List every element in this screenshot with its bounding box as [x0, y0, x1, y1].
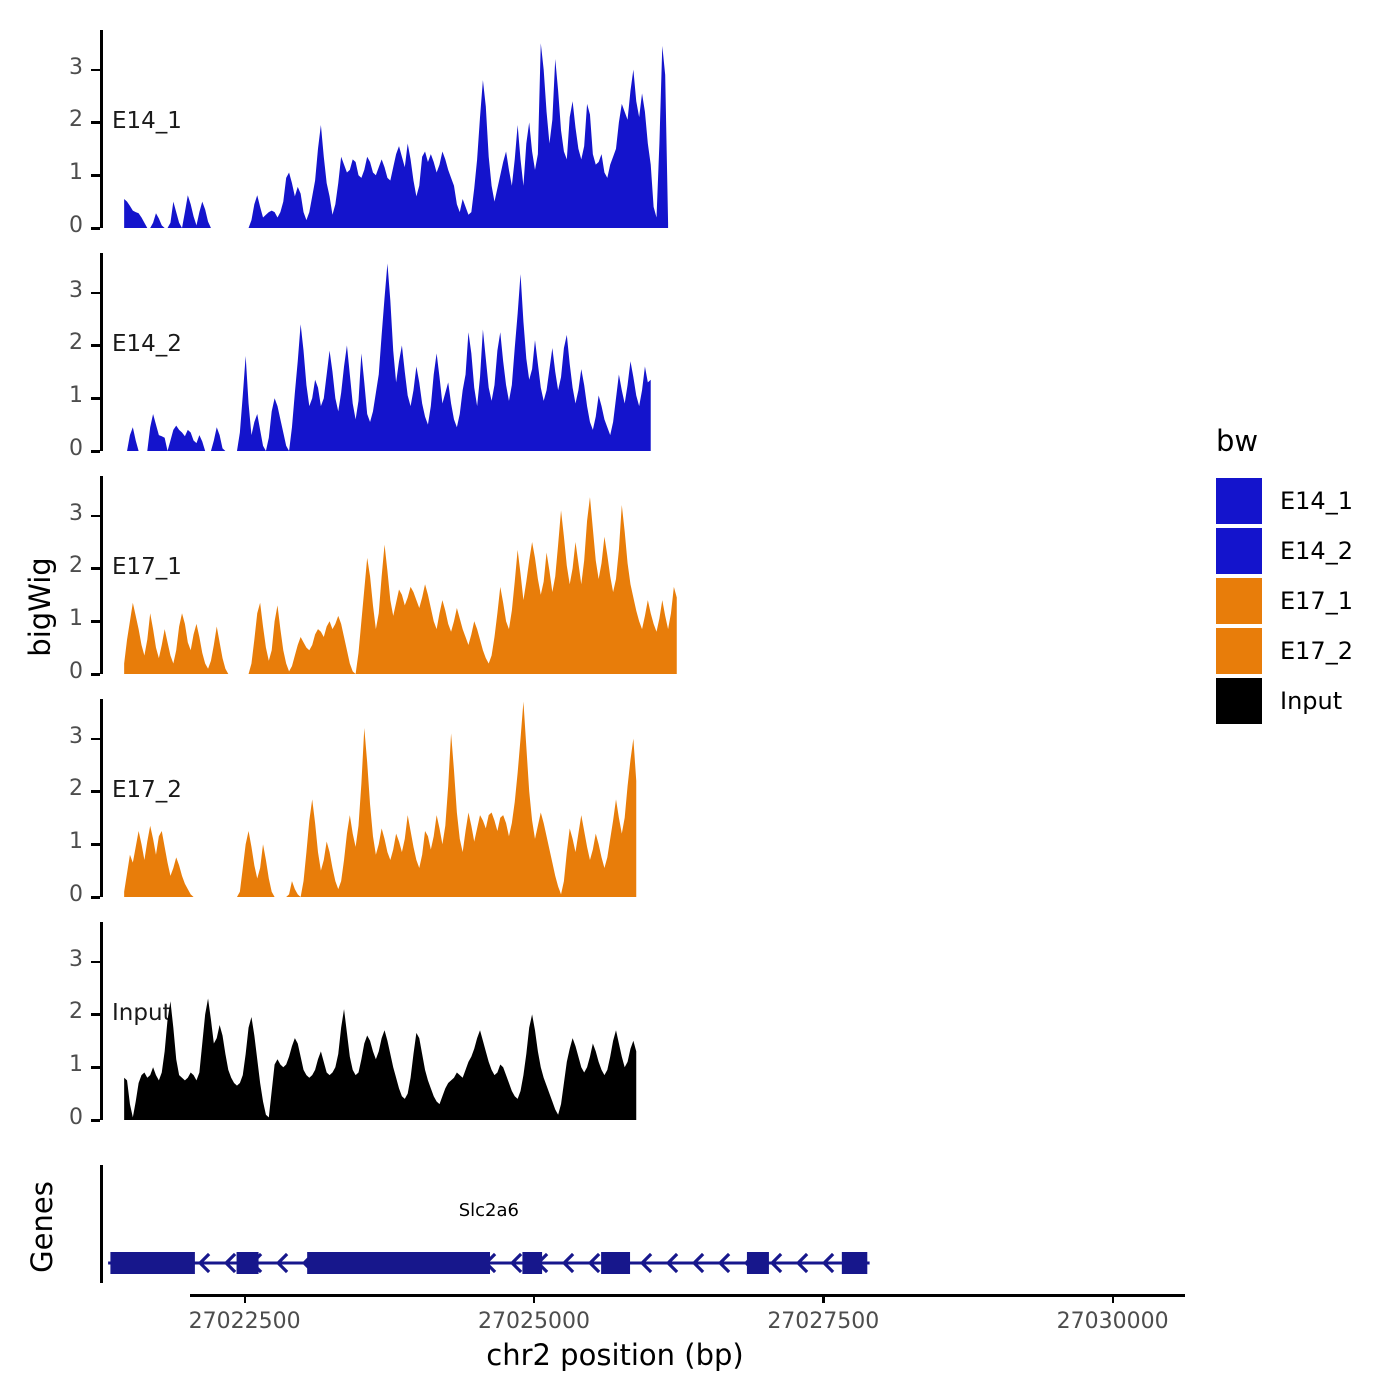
- signal-area: [168, 202, 182, 228]
- signal-track-e17_2: [101, 699, 1137, 899]
- legend-swatch-input[interactable]: [1216, 678, 1262, 724]
- signal-track-e14_2: [101, 253, 1137, 453]
- y-tick-label: 0: [13, 659, 83, 684]
- y-tick-label: 1: [13, 829, 83, 854]
- exon-block: [522, 1252, 542, 1274]
- signal-area: [356, 497, 677, 674]
- x-tick-mark: [533, 1294, 536, 1303]
- signal-area: [127, 427, 139, 451]
- signal-area: [289, 264, 651, 451]
- signal-area: [182, 195, 211, 228]
- y-tick-label: 0: [13, 1105, 83, 1130]
- y-tick-label: 3: [13, 724, 83, 749]
- y-tick-mark: [91, 567, 100, 570]
- x-axis-title: chr2 position (bp): [100, 1338, 1130, 1372]
- y-tick-label: 0: [13, 882, 83, 907]
- y-tick-label: 2: [13, 553, 83, 578]
- signal-area: [211, 427, 225, 451]
- x-tick-mark: [244, 1294, 247, 1303]
- y-tick-mark: [91, 69, 100, 72]
- signal-area: [249, 43, 669, 228]
- y-tick-mark: [91, 896, 100, 899]
- signal-area: [124, 199, 147, 228]
- y-tick-label: 1: [13, 606, 83, 631]
- signal-area: [147, 414, 167, 451]
- signal-track-e14_1: [101, 30, 1137, 230]
- x-tick-label: 27025000: [424, 1309, 644, 1334]
- y-tick-mark: [91, 1013, 100, 1016]
- figure-root: bigWig Genes 0123E14_10123E14_20123E17_1…: [0, 0, 1400, 1400]
- y-tick-label: 1: [13, 1052, 83, 1077]
- y-tick-mark: [91, 620, 100, 623]
- legend-label-e17_1: E17_1: [1280, 587, 1353, 615]
- x-tick-mark: [1112, 1294, 1115, 1303]
- y-tick-mark: [91, 738, 100, 741]
- signal-area: [237, 356, 266, 451]
- y-tick-label: 2: [13, 107, 83, 132]
- legend-label-e17_2: E17_2: [1280, 637, 1353, 665]
- exon-block: [237, 1252, 259, 1274]
- x-tick-mark: [822, 1294, 825, 1303]
- y-tick-label: 2: [13, 330, 83, 355]
- y-tick-mark: [91, 1119, 100, 1122]
- genes-axis-title: Genes: [25, 1167, 59, 1287]
- signal-area: [124, 603, 228, 674]
- x-tick-label: 27027500: [713, 1309, 933, 1334]
- signal-area: [124, 826, 193, 897]
- exon-block: [110, 1252, 194, 1274]
- y-tick-mark: [91, 121, 100, 124]
- legend-title: bw: [1216, 424, 1258, 458]
- y-tick-label: 2: [13, 776, 83, 801]
- y-tick-mark: [91, 174, 100, 177]
- y-tick-mark: [91, 450, 100, 453]
- gene-model-slc2a6[interactable]: [100, 1245, 1170, 1285]
- y-tick-label: 1: [13, 383, 83, 408]
- legend-swatch-e14_1[interactable]: [1216, 478, 1262, 524]
- signal-area: [301, 702, 637, 897]
- y-tick-label: 0: [13, 213, 83, 238]
- legend-label-e14_1: E14_1: [1280, 487, 1353, 515]
- legend-label-input: Input: [1280, 687, 1342, 715]
- exon-block: [307, 1252, 490, 1274]
- exon-block: [601, 1252, 630, 1274]
- y-tick-mark: [91, 673, 100, 676]
- exon-block: [842, 1252, 867, 1274]
- signal-area: [168, 426, 206, 451]
- y-tick-label: 3: [13, 501, 83, 526]
- x-tick-label: 27030000: [1003, 1309, 1223, 1334]
- signal-area: [150, 213, 164, 228]
- signal-area: [286, 881, 300, 897]
- y-tick-mark: [91, 843, 100, 846]
- legend-swatch-e17_2[interactable]: [1216, 628, 1262, 674]
- y-tick-mark: [91, 344, 100, 347]
- signal-area: [266, 398, 289, 451]
- y-tick-mark: [91, 227, 100, 230]
- y-tick-mark: [91, 790, 100, 793]
- y-tick-mark: [91, 397, 100, 400]
- y-tick-label: 0: [13, 436, 83, 461]
- y-tick-label: 3: [13, 278, 83, 303]
- y-tick-mark: [91, 292, 100, 295]
- legend-swatch-e17_1[interactable]: [1216, 578, 1262, 624]
- y-tick-label: 3: [13, 55, 83, 80]
- legend-label-e14_2: E14_2: [1280, 537, 1353, 565]
- legend-swatch-e14_2[interactable]: [1216, 528, 1262, 574]
- y-tick-mark: [91, 1066, 100, 1069]
- y-tick-mark: [91, 961, 100, 964]
- x-axis-line: [190, 1294, 1185, 1297]
- y-tick-label: 3: [13, 947, 83, 972]
- signal-track-input: [101, 922, 1137, 1122]
- x-tick-label: 27022500: [135, 1309, 355, 1334]
- signal-area: [124, 999, 636, 1120]
- gene-name-label: Slc2a6: [389, 1200, 589, 1221]
- y-tick-label: 1: [13, 160, 83, 185]
- y-tick-label: 2: [13, 999, 83, 1024]
- signal-area: [249, 603, 356, 674]
- signal-track-e17_1: [101, 476, 1137, 676]
- signal-area: [237, 831, 275, 897]
- y-tick-mark: [91, 515, 100, 518]
- exon-block: [747, 1252, 769, 1274]
